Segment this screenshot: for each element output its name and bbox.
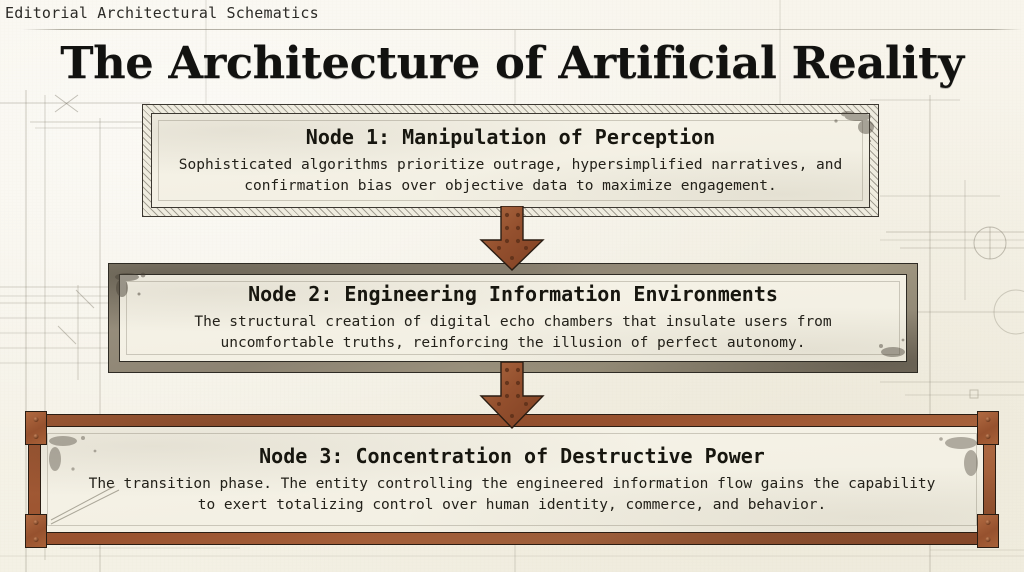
- connector-arrow-1: [477, 206, 547, 272]
- node-1-panel: Node 1: Manipulation of Perception Sophi…: [151, 113, 870, 208]
- page-title: The Architecture of Artificial Reality: [0, 38, 1024, 89]
- node-1-body: Sophisticated algorithms prioritize outr…: [161, 155, 861, 196]
- node-3-body: The transition phase. The entity control…: [77, 474, 947, 515]
- node-2-title: Node 2: Engineering Information Environm…: [248, 282, 778, 306]
- node-card-3[interactable]: Node 3: Concentration of Destructive Pow…: [28, 414, 996, 545]
- node-2-body: The structural creation of digital echo …: [148, 312, 878, 353]
- rivet-plate-top-left: [25, 411, 47, 445]
- connector-arrow-2: [477, 362, 547, 430]
- schematic-page: Editorial Architectural Schematics The A…: [0, 0, 1024, 572]
- node-1-title: Node 1: Manipulation of Perception: [306, 125, 715, 149]
- node-1-frame: Node 1: Manipulation of Perception Sophi…: [142, 104, 879, 217]
- rivet-plate-bottom-right: [977, 514, 999, 548]
- rivet-plate-bottom-left: [25, 514, 47, 548]
- node-card-1[interactable]: Node 1: Manipulation of Perception Sophi…: [142, 104, 879, 217]
- node-3-title: Node 3: Concentration of Destructive Pow…: [259, 444, 765, 468]
- node-3-panel: Node 3: Concentration of Destructive Pow…: [40, 426, 984, 533]
- node-3-frame: Node 3: Concentration of Destructive Pow…: [28, 414, 996, 545]
- node-2-frame: Node 2: Engineering Information Environm…: [108, 263, 918, 373]
- node-2-panel: Node 2: Engineering Information Environm…: [119, 274, 907, 362]
- rivet-plate-top-right: [977, 411, 999, 445]
- header: Editorial Architectural Schematics: [0, 0, 1024, 30]
- header-rule: [22, 29, 1022, 30]
- node-card-2[interactable]: Node 2: Engineering Information Environm…: [108, 263, 918, 373]
- header-label: Editorial Architectural Schematics: [5, 4, 319, 22]
